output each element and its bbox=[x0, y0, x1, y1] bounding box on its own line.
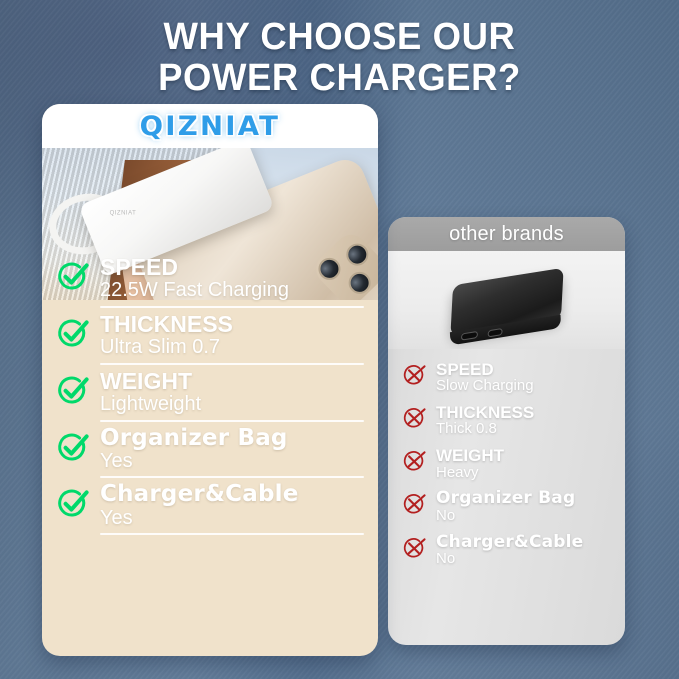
feature-text: Organizer BagNo bbox=[436, 490, 613, 524]
feature-title: THICKNESS bbox=[100, 313, 364, 336]
feature-text: Charger&CableNo bbox=[436, 534, 613, 568]
feature-row: Organizer BagNo bbox=[402, 490, 613, 524]
feature-title: SPEED bbox=[436, 361, 613, 378]
check-circle-icon bbox=[56, 260, 90, 294]
feature-row: Charger&CableYes bbox=[56, 483, 364, 535]
feature-divider bbox=[100, 533, 364, 535]
feature-title: Charger&Cable bbox=[100, 483, 364, 506]
infographic-canvas: WHY CHOOSE OUR POWER CHARGER? QIZNIAT QI… bbox=[0, 0, 679, 679]
brand-name: QIZNIAT bbox=[140, 111, 281, 142]
feature-text: THICKNESSThick 0.8 bbox=[436, 404, 613, 438]
other-product-photo bbox=[388, 251, 625, 349]
feature-title: WEIGHT bbox=[436, 447, 613, 464]
our-product-card: QIZNIAT QIZNIAT SPEED22.5W Fast Charging… bbox=[42, 104, 378, 656]
check-circle-icon bbox=[56, 317, 90, 351]
feature-title: Organizer Bag bbox=[100, 427, 364, 450]
feature-row: SPEEDSlow Charging bbox=[402, 361, 613, 395]
feature-value: Yes bbox=[100, 450, 364, 472]
feature-title: WEIGHT bbox=[100, 370, 364, 393]
feature-text: Charger&CableYes bbox=[100, 483, 364, 535]
feature-row: THICKNESSUltra Slim 0.7 bbox=[56, 313, 364, 365]
feature-value: Lightweight bbox=[100, 393, 364, 415]
feature-text: SPEED22.5W Fast Charging bbox=[100, 256, 364, 308]
feature-value: Thick 0.8 bbox=[436, 421, 613, 438]
cross-circle-icon bbox=[402, 363, 427, 388]
usb-port-icon bbox=[487, 328, 502, 337]
check-circle-icon bbox=[56, 431, 90, 465]
feature-text: Organizer BagYes bbox=[100, 427, 364, 479]
feature-row: Charger&CableNo bbox=[402, 534, 613, 568]
feature-row: WEIGHTLightweight bbox=[56, 370, 364, 422]
feature-row: THICKNESSThick 0.8 bbox=[402, 404, 613, 438]
other-feature-list: SPEEDSlow ChargingTHICKNESSThick 0.8WEIG… bbox=[388, 349, 625, 568]
feature-text: SPEEDSlow Charging bbox=[436, 361, 613, 395]
power-bank-logo: QIZNIAT bbox=[110, 211, 137, 217]
other-brands-label: other brands bbox=[449, 223, 564, 246]
feature-value: Slow Charging bbox=[436, 378, 613, 395]
feature-row: WEIGHTHeavy bbox=[402, 447, 613, 481]
feature-title: SPEED bbox=[100, 256, 364, 279]
feature-divider bbox=[100, 306, 364, 308]
our-feature-list: SPEED22.5W Fast ChargingTHICKNESSUltra S… bbox=[56, 256, 364, 540]
other-brands-header: other brands bbox=[388, 217, 625, 251]
cross-circle-icon bbox=[402, 536, 427, 561]
feature-text: WEIGHTHeavy bbox=[436, 447, 613, 481]
cross-circle-icon bbox=[402, 406, 427, 431]
feature-value: Heavy bbox=[436, 465, 613, 482]
usb-port-icon bbox=[460, 331, 477, 341]
feature-value: No bbox=[436, 551, 613, 568]
feature-value: 22.5W Fast Charging bbox=[100, 279, 364, 301]
feature-row: Organizer BagYes bbox=[56, 427, 364, 479]
feature-value: Ultra Slim 0.7 bbox=[100, 336, 364, 358]
feature-divider bbox=[100, 420, 364, 422]
other-brands-card: other brands SPEEDSlow ChargingTHICKNESS… bbox=[388, 217, 625, 645]
page-title: WHY CHOOSE OUR POWER CHARGER? bbox=[14, 17, 666, 98]
feature-title: Organizer Bag bbox=[436, 490, 613, 507]
cross-circle-icon bbox=[402, 449, 427, 474]
feature-title: THICKNESS bbox=[436, 404, 613, 421]
feature-value: Yes bbox=[100, 507, 364, 529]
feature-value: No bbox=[436, 508, 613, 525]
check-circle-icon bbox=[56, 374, 90, 408]
cross-circle-icon bbox=[402, 492, 427, 517]
feature-text: WEIGHTLightweight bbox=[100, 370, 364, 422]
feature-text: THICKNESSUltra Slim 0.7 bbox=[100, 313, 364, 365]
feature-row: SPEED22.5W Fast Charging bbox=[56, 256, 364, 308]
feature-title: Charger&Cable bbox=[436, 534, 613, 551]
photo-black-power-bank bbox=[450, 268, 563, 337]
feature-divider bbox=[100, 363, 364, 365]
check-circle-icon bbox=[56, 487, 90, 521]
brand-header: QIZNIAT bbox=[42, 104, 378, 148]
feature-divider bbox=[100, 476, 364, 478]
